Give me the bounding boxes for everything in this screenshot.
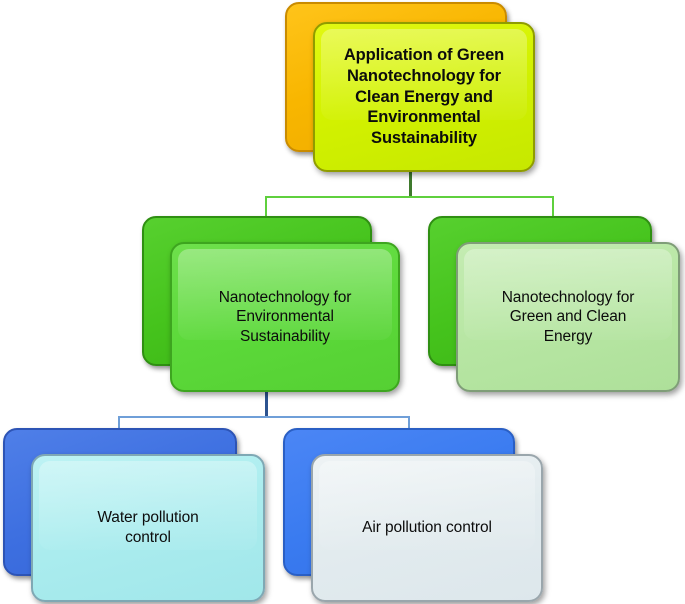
connector-drop-env [265,196,267,218]
node-water-pollution-control[interactable]: Water pollution control [3,428,265,602]
node-water-pollution-control-front-card[interactable]: Water pollution control [31,454,265,602]
node-green-clean-energy-front-card[interactable]: Nanotechnology for Green and Clean Energ… [456,242,680,392]
node-environmental-sustainability-front-card[interactable]: Nanotechnology for Environmental Sustain… [170,242,400,392]
node-environmental-sustainability-label: Nanotechnology for Environmental Sustain… [209,288,362,347]
connector-bar-level3 [118,416,410,418]
node-air-pollution-control-front-card[interactable]: Air pollution control [311,454,543,602]
node-green-clean-energy[interactable]: Nanotechnology for Green and Clean Energ… [428,216,680,392]
connector-drop-energy [552,196,554,218]
connector-stem-root [409,168,412,197]
node-air-pollution-control[interactable]: Air pollution control [283,428,543,602]
node-root-label: Application of Green Nanotechnology for … [334,45,514,149]
node-green-clean-energy-label: Nanotechnology for Green and Clean Energ… [492,288,645,347]
node-root[interactable]: Application of Green Nanotechnology for … [285,2,535,172]
node-water-pollution-control-label: Water pollution control [87,508,208,547]
node-root-front-card[interactable]: Application of Green Nanotechnology for … [313,22,535,172]
diagram-canvas: Application of Green Nanotechnology for … [0,0,685,604]
connector-bar-level2 [265,196,554,198]
connector-stem-env [265,390,268,417]
node-air-pollution-control-label: Air pollution control [352,518,502,538]
node-environmental-sustainability[interactable]: Nanotechnology for Environmental Sustain… [142,216,400,392]
